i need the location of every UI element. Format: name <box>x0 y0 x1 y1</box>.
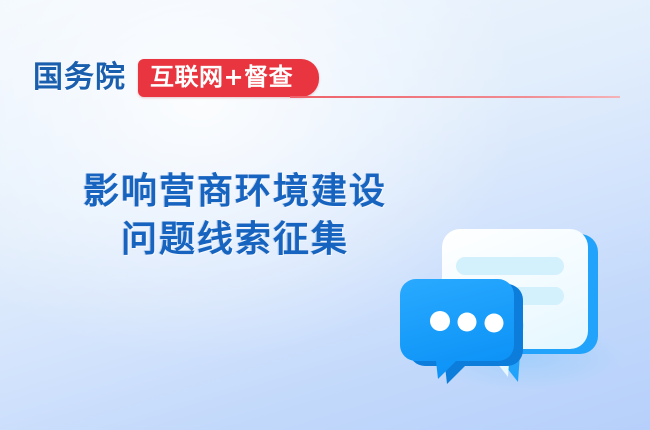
typing-dot-3 <box>485 314 504 333</box>
internet-supervision-badge: 互联网+督查 <box>138 59 319 97</box>
bubble-text-line-1 <box>456 257 564 275</box>
header-divider-rule <box>290 96 620 98</box>
typing-dot-1 <box>430 311 450 331</box>
chat-bubbles-illustration <box>398 205 634 405</box>
gov-campaign-banner: 国务院 互联网+督查 影响营商环境建设 问题线索征集 <box>0 0 650 430</box>
typing-dot-2 <box>458 313 477 332</box>
banner-header: 国务院 互联网+督查 <box>33 57 319 99</box>
gov-council-label: 国务院 <box>33 63 126 93</box>
internet-supervision-badge-label: 互联网+督查 <box>150 63 293 91</box>
